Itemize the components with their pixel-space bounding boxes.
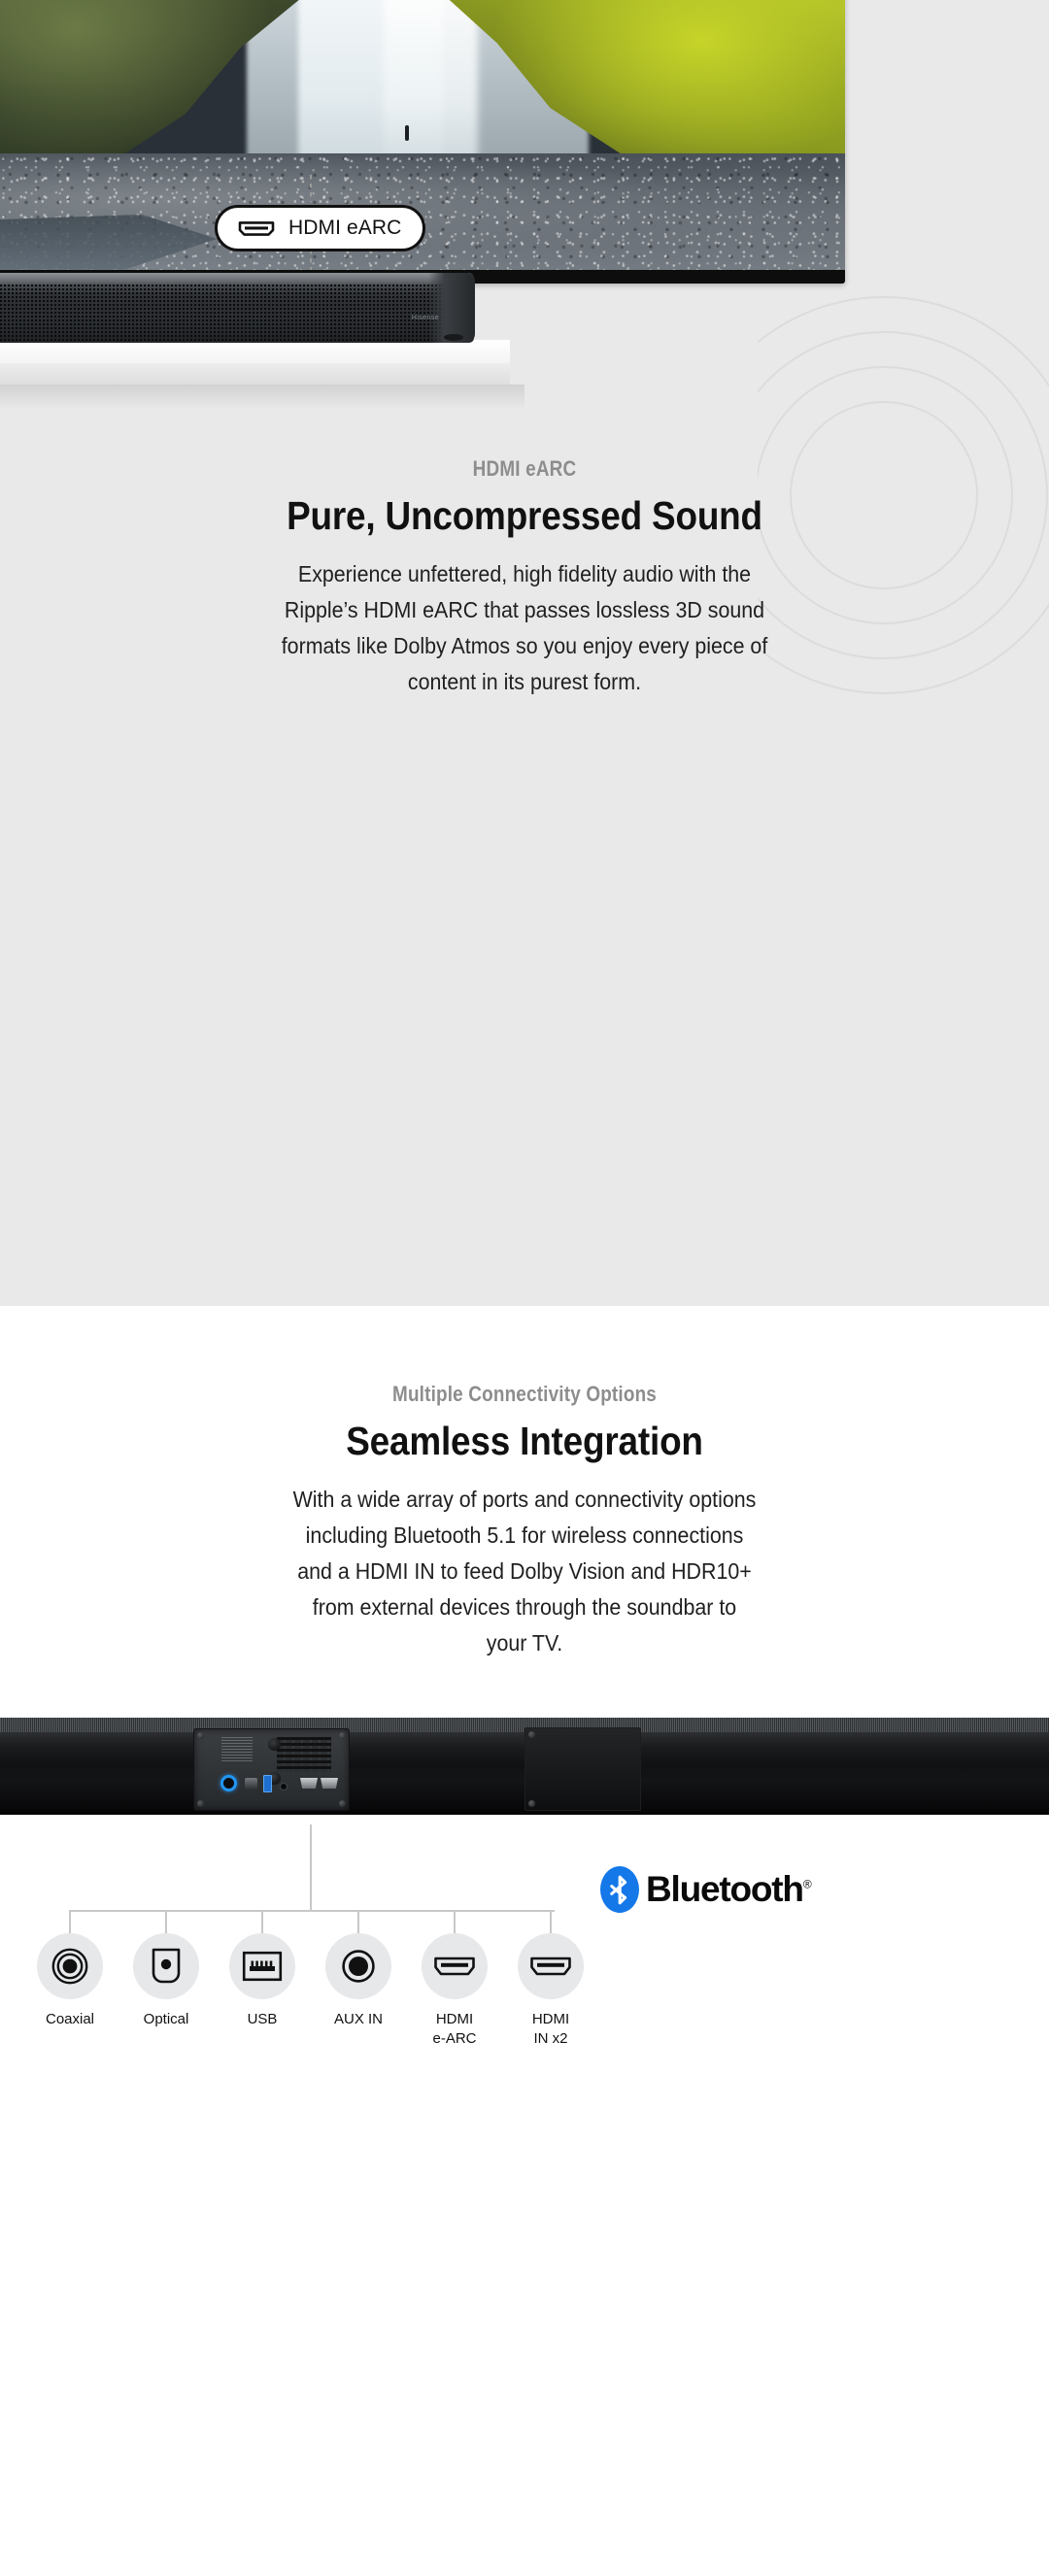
port-label: Coaxial	[35, 2010, 105, 2029]
port-label: AUX IN	[323, 2010, 393, 2029]
port-item-coaxial[interactable]: Coaxial	[35, 1910, 105, 2049]
port-icon-bubble	[133, 1933, 199, 1999]
hero-eyebrow: HDMI eARC	[74, 456, 976, 482]
callout-stem	[69, 1910, 71, 1933]
port-item-usb[interactable]: USB	[227, 1910, 297, 2049]
soundbar-rear-right-panel	[524, 1727, 641, 1811]
port-callout-diagram: Bluetooth® Coaxial	[0, 1824, 1049, 2145]
port-icon-bubble	[422, 1933, 488, 1999]
hdmi-earc-badge-label: HDMI eARC	[288, 217, 401, 240]
hero-headline: Pure, Uncompressed Sound	[52, 493, 997, 539]
soundbar-front: Hisense	[0, 273, 474, 343]
port-icon-bubble	[37, 1933, 103, 1999]
rear-aux-port	[280, 1783, 288, 1790]
connectivity-headline: Seamless Integration	[52, 1419, 997, 1464]
rear-optical-port	[245, 1778, 257, 1790]
rear-hdmi-port	[321, 1778, 338, 1789]
hero-copy-block: HDMI eARC Pure, Uncompressed Sound Exper…	[0, 456, 1049, 700]
hdmi-port-icon	[529, 1956, 572, 1977]
port-label: USB	[227, 2010, 297, 2029]
panel-screw-icon	[197, 1732, 204, 1739]
bluetooth-word-text: Bluetooth	[646, 1869, 803, 1909]
panel-screw-icon	[339, 1732, 346, 1739]
hdmi-port-icon	[237, 219, 276, 238]
soundbar-mesh-face	[0, 284, 474, 343]
callout-stem	[454, 1910, 456, 1933]
port-icon-bubble	[229, 1933, 295, 1999]
connectivity-body-text: With a wide array of ports and connectiv…	[289, 1482, 760, 1661]
callout-main-stem	[310, 1824, 312, 1910]
hdmi-port-icon	[433, 1956, 476, 1977]
bluetooth-logo: Bluetooth®	[600, 1866, 810, 1913]
panel-screw-icon	[339, 1800, 346, 1807]
person-silhouette	[405, 125, 409, 141]
mount-hole	[268, 1738, 281, 1751]
port-item-hdmi-in[interactable]: HDMI IN x2	[516, 1910, 586, 2049]
shelf-surface	[0, 340, 510, 363]
panel-screw-icon	[528, 1800, 535, 1807]
port-item-hdmi-earc[interactable]: HDMI e-ARC	[420, 1910, 490, 2049]
hero-body-text: Experience unfettered, high fidelity aud…	[272, 556, 778, 700]
connectivity-eyebrow: Multiple Connectivity Options	[74, 1382, 976, 1407]
regulatory-label	[221, 1737, 253, 1762]
connector-dots-top	[310, 175, 312, 202]
port-list: Coaxial Optical	[0, 1910, 1049, 2049]
vent-grille	[277, 1737, 331, 1772]
port-icon-bubble	[518, 1933, 584, 1999]
shelf-edge	[0, 363, 510, 385]
port-icon-bubble	[325, 1933, 391, 1999]
shelf-shadow	[0, 385, 524, 410]
port-label: HDMI e-ARC	[420, 2010, 490, 2049]
hdmi-earc-badge: HDMI eARC	[215, 205, 425, 251]
panel-screw-icon	[197, 1800, 204, 1807]
callout-stem	[550, 1910, 552, 1933]
rear-coaxial-port	[220, 1775, 237, 1791]
aux-jack-icon	[341, 1949, 376, 1984]
tv-illustration	[0, 0, 845, 284]
rear-hdmi-port	[300, 1778, 318, 1789]
callout-stem	[165, 1910, 167, 1933]
port-label: HDMI IN x2	[516, 2010, 586, 2049]
panel-screw-icon	[528, 1731, 535, 1738]
callout-stem	[261, 1910, 263, 1933]
bluetooth-icon	[600, 1866, 639, 1913]
port-item-optical[interactable]: Optical	[131, 1910, 201, 2049]
bluetooth-wordmark: Bluetooth®	[646, 1869, 810, 1910]
optical-port-icon	[149, 1947, 184, 1986]
rear-port-panel	[193, 1728, 350, 1811]
hdmi-earc-hero-section: HDMI eARC Hisense HDMI eARC Pure, Uncomp…	[0, 0, 1049, 1306]
soundbar-rear-illustration	[0, 1718, 1049, 1824]
usb-port-icon	[242, 1951, 283, 1982]
callout-stem	[357, 1910, 359, 1933]
coaxial-port-icon	[51, 1947, 89, 1986]
connectivity-section: Multiple Connectivity Options Seamless I…	[0, 1306, 1049, 2145]
soundbar-right-end	[428, 273, 475, 343]
connectivity-copy-block: Multiple Connectivity Options Seamless I…	[0, 1382, 1049, 1661]
port-label: Optical	[131, 2010, 201, 2029]
rear-usb-port	[263, 1775, 272, 1792]
soundbar-foot	[444, 334, 463, 341]
port-item-aux-in[interactable]: AUX IN	[323, 1910, 393, 2049]
registered-mark: ®	[803, 1878, 811, 1891]
soundbar-brand-logo: Hisense	[412, 315, 439, 321]
